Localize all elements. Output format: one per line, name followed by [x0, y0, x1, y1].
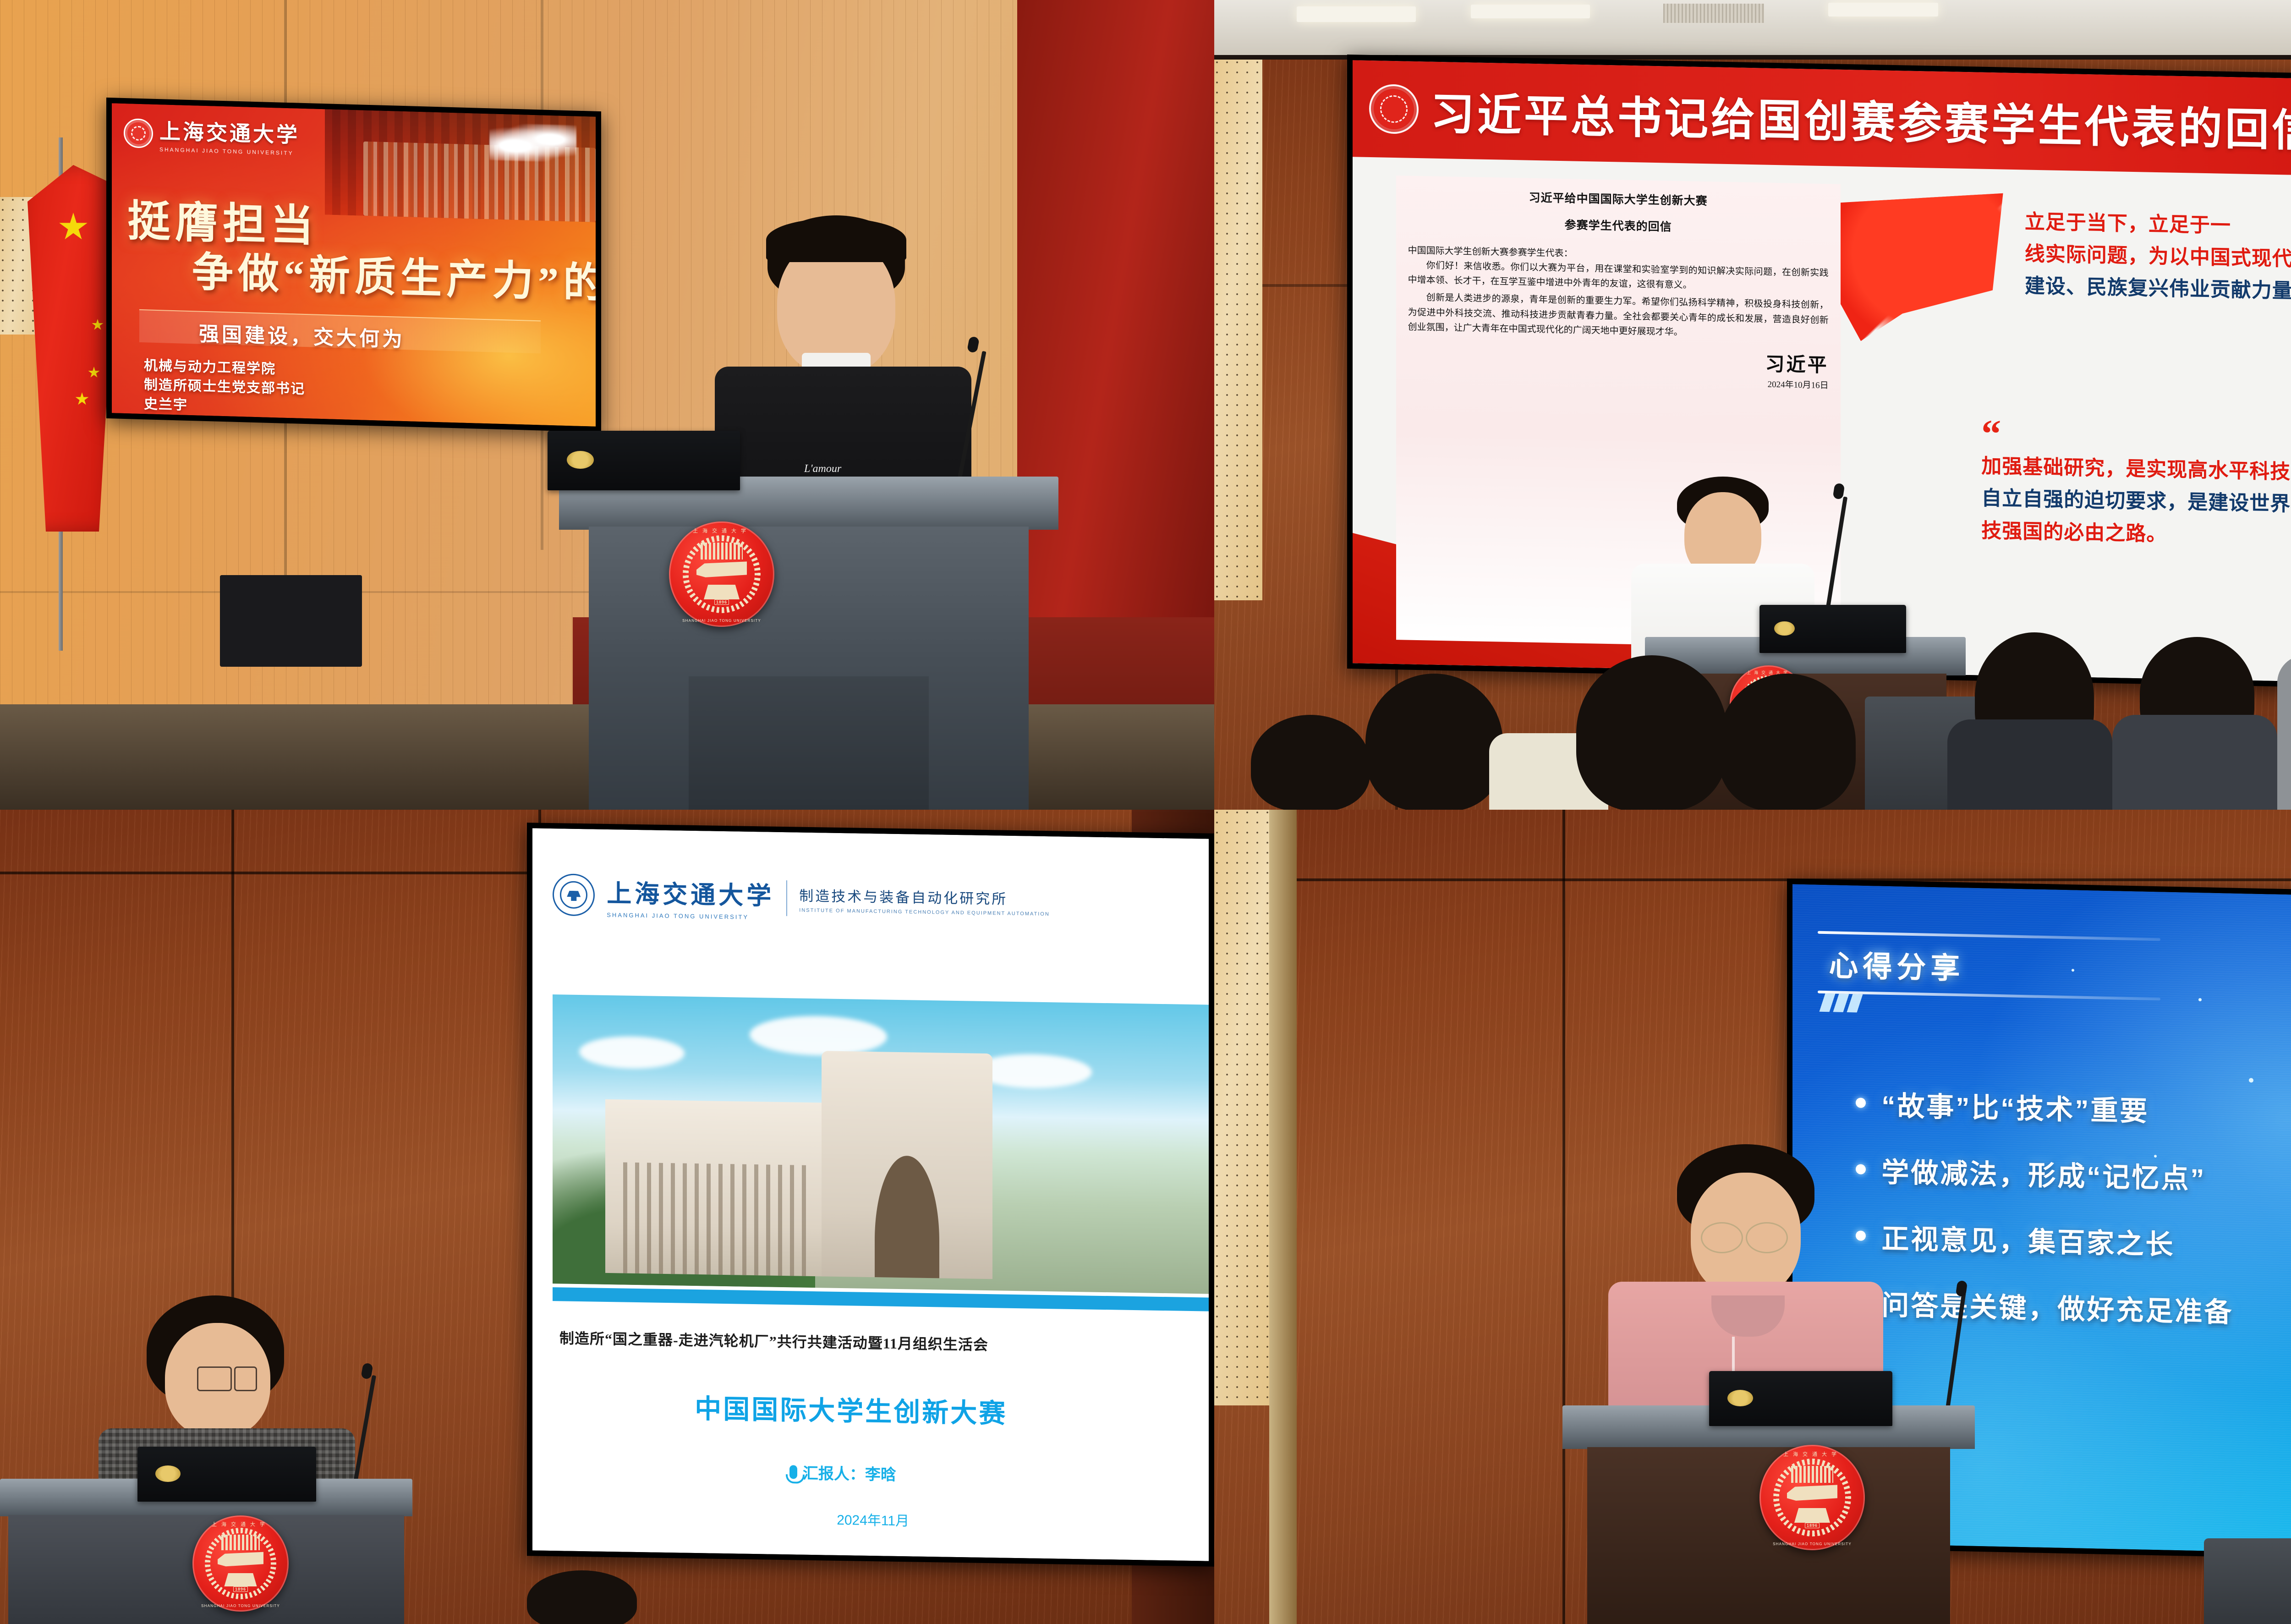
party-emblem-icon — [1369, 84, 1419, 134]
flag-star-icon — [92, 319, 104, 331]
audience-head — [1365, 674, 1503, 810]
letter-title-line1: 习近平给中国国际大学生创新大赛 — [1408, 186, 1829, 214]
campus-gate-arch — [822, 1051, 992, 1279]
sjtu-podium-emblem: 上海交通大学 1896 SHANGHAI JIAO TONG UNIVERSIT… — [669, 521, 774, 627]
dove-icon — [489, 123, 576, 163]
sjtu-podium-emblem: 上海交通大学 1896 SHANGHAI JIAO TONG UNIVERSIT… — [192, 1515, 289, 1612]
letter-paragraph-2: 创新是人类进步的源泉，青年是创新的重要生力军。希望你们弘扬科学精神，积极投身科技… — [1408, 290, 1829, 343]
laptop-screen — [548, 431, 740, 490]
acoustic-panel — [1214, 810, 1269, 1405]
quote1-line1: 立足于当下，立足于一 — [2025, 206, 2291, 243]
emblem-base — [704, 585, 740, 599]
quote1-line3: 建设、民族复兴伟业贡献力量 — [2025, 270, 2291, 308]
emblem-ring-en: SHANGHAI JIAO TONG UNIVERSITY — [669, 619, 774, 623]
emblem-base — [224, 1573, 257, 1586]
panel-bottom-left: 上海交通大学 SHANGHAI JIAO TONG UNIVERSITY 制造技… — [0, 810, 1214, 1624]
quote1-line2-text: 线实际问题，为以中国式现代化 — [2025, 242, 2291, 270]
slide-title: 心得分享 — [1829, 942, 2160, 991]
wall-trim — [1269, 810, 1297, 1624]
slide-byline-3: 史兰宇 — [144, 394, 188, 416]
ceiling-light — [1471, 5, 1590, 18]
cloud-shape — [579, 1036, 685, 1070]
emblem-ring-cn: 上海交通大学 — [669, 527, 774, 534]
slide-strapline: 强国建设，交大何为 — [199, 318, 405, 353]
laptop-badge-icon — [1774, 621, 1795, 636]
laptop-badge-icon — [155, 1465, 181, 1482]
star-speck — [2249, 1078, 2253, 1082]
quote2-line2: 自立自强的迫切要求，是建设世界科 — [1981, 483, 2291, 521]
lectern-podium: 上海交通大学 1896 SHANGHAI JIAO TONG UNIVERSIT… — [1562, 1405, 1975, 1624]
audience-shoulder — [2277, 655, 2291, 810]
ceiling-light — [1828, 3, 1938, 16]
microphone-icon — [789, 1465, 797, 1479]
ceiling-light — [1297, 6, 1416, 22]
emblem-year: 1896 — [233, 1586, 248, 1592]
laptop-badge-icon — [567, 451, 594, 469]
speaker-glasses — [197, 1366, 232, 1391]
laptop-screen — [1709, 1371, 1892, 1426]
star-speck — [2072, 969, 2074, 972]
laptop-screen — [1759, 605, 1906, 653]
sjtu-seal-icon — [124, 118, 153, 148]
audience-shoulder — [1947, 719, 2112, 810]
bullet-text: “故事”比“技术”重要 — [1881, 1083, 2149, 1129]
sjtu-logo: 上海交通大学 SHANGHAI JIAO TONG UNIVERSITY — [124, 114, 300, 157]
audience-head — [1576, 655, 1727, 810]
sjtu-wordmark-cn: 上海交通大学 — [159, 115, 300, 149]
speaker-glasses — [1701, 1222, 1743, 1253]
podium-column — [689, 676, 928, 810]
sjtu-podium-emblem: 上海交通大学 1896 SHANGHAI JIAO TONG UNIVERSIT… — [1759, 1445, 1865, 1550]
acoustic-panel — [1214, 60, 1262, 600]
ceiling-vent — [1663, 4, 1764, 23]
sjtu-seal-icon — [553, 873, 595, 916]
laptop-screen — [137, 1447, 316, 1502]
quote2-line3: 技强国的必由之路。 — [1981, 515, 2291, 553]
bullet-dot-icon — [1856, 1098, 1866, 1108]
institute-name-cn: 制造技术与装备自动化研究所 — [799, 884, 1050, 909]
emblem-books — [1791, 1466, 1833, 1483]
presentation-screen: 上海交通大学 SHANGHAI JIAO TONG UNIVERSITY 挺膺担… — [106, 98, 601, 432]
star-speck — [1983, 1230, 1986, 1234]
slide-subtitle: 制造所“国之重器-走进汽轮机厂”共行共建活动暨11月组织生活会 — [559, 1327, 988, 1355]
flag-star-icon — [88, 367, 100, 379]
emblem-books — [221, 1535, 260, 1550]
logo-divider — [786, 880, 787, 916]
flag-star-icon — [59, 213, 88, 242]
quote-block-1: 立足于当下，立足于一 线实际问题，为以中国式现代化 建设、民族复兴伟业贡献力量 — [2025, 206, 2291, 308]
screen-display-area: 上海交通大学 SHANGHAI JIAO TONG UNIVERSITY 制造技… — [532, 828, 1209, 1561]
title-rule-top — [1818, 931, 2160, 941]
list-item: “故事”比“技术”重要 — [1856, 1083, 2291, 1135]
slide-banner-title: 习近平总书记给国创赛参赛学生代表的回信 — [1431, 78, 2291, 159]
slide-main-title: 中国国际大学生创新大赛 — [695, 1387, 1007, 1430]
slide-presenter: 汇报人：李晗 — [789, 1460, 896, 1485]
emblem-ring-cn: 上海交通大学 — [1759, 1450, 1865, 1458]
presenter-name: 汇报人：李晗 — [803, 1461, 896, 1485]
panel-bottom-right: 心得分享 “故事”比“技术”重要 学做减法，形成“记忆点” — [1214, 810, 2291, 1624]
emblem-base — [1794, 1508, 1830, 1523]
emblem-ring-cn: 上海交通大学 — [192, 1520, 289, 1528]
wall-seam — [1214, 878, 2291, 881]
letter-title-line2: 参赛学生代表的回信 — [1408, 212, 1829, 240]
red-flag-graphic — [1830, 190, 2003, 350]
star-speck — [2154, 1155, 2157, 1158]
flag-star-icon — [75, 392, 89, 406]
cloud-shape — [750, 1015, 887, 1057]
campus-gate-photo — [553, 995, 1209, 1294]
speaker-glasses — [1746, 1222, 1788, 1253]
laptop-badge-icon — [1727, 1390, 1753, 1406]
speaker-glasses — [234, 1366, 257, 1391]
emblem-ring-en: SHANGHAI JIAO TONG UNIVERSITY — [192, 1604, 289, 1608]
quote-block-2: “ 加强基础研究，是实现高水平科技 自立自强的迫切要求，是建设世界科 技强国的必… — [1981, 422, 2291, 554]
campus-building — [605, 1099, 828, 1276]
audience-head — [1251, 715, 1370, 810]
emblem-year: 1896 — [714, 599, 729, 605]
title-rule-bottom — [1818, 990, 2160, 1000]
star-speck — [2198, 998, 2202, 1001]
screen-display-area: 上海交通大学 SHANGHAI JIAO TONG UNIVERSITY 挺膺担… — [112, 103, 596, 426]
stage-monitor-box — [220, 575, 362, 667]
emblem-year: 1896 — [1805, 1523, 1820, 1528]
sweater-text: L'amour — [804, 463, 877, 475]
sjtu-wordmark-en: SHANGHAI JIAO TONG UNIVERSITY — [607, 911, 774, 921]
institute-name-en: INSTITUTE OF MANUFACTURING TECHNOLOGY AN… — [799, 907, 1050, 917]
audience-shoulder — [2112, 715, 2277, 810]
photo-collage-grid: 上海交通大学 SHANGHAI JIAO TONG UNIVERSITY 挺膺担… — [0, 0, 2291, 1624]
speaker-fringe — [766, 218, 906, 262]
lectern-podium: 上海交通大学 1896 SHANGHAI JIAO TONG UNIVERSIT… — [559, 477, 1058, 810]
presentation-screen: 上海交通大学 SHANGHAI JIAO TONG UNIVERSITY 制造技… — [527, 823, 1214, 1567]
emblem-books — [701, 543, 743, 560]
slide-logo-lockup: 上海交通大学 SHANGHAI JIAO TONG UNIVERSITY 制造技… — [553, 872, 1050, 925]
slide-title-block: 心得分享 — [1818, 931, 2160, 1019]
emblem-ring-en: SHANGHAI JIAO TONG UNIVERSITY — [1759, 1542, 1865, 1546]
slide-date: 2024年11月 — [837, 1508, 909, 1529]
sjtu-wordmark-cn: 上海交通大学 — [607, 873, 774, 912]
slide-banner: 习近平总书记给国创赛参赛学生代表的回信 — [1353, 60, 2291, 177]
auditorium-chair — [2204, 1538, 2291, 1624]
slide-patriotic-red: 上海交通大学 SHANGHAI JIAO TONG UNIVERSITY 挺膺担… — [112, 103, 596, 426]
slide-headline-line2: 争做“新质生产力”的一份子 — [192, 238, 596, 313]
quote1-line2: 线实际问题，为以中国式现代化 — [2025, 238, 2291, 275]
letter-paragraph-1: 你们好！来信收悉。你们以大赛为平台，用在课堂和实验室学到的知识解决实际问题，在创… — [1408, 258, 1829, 295]
audience-head — [1718, 674, 1856, 810]
panel-top-right: 习近平总书记给国创赛参赛学生代表的回信 习近平给中国国际大学生创新大赛 参赛学生… — [1214, 0, 2291, 810]
quote-mark-icon: “ — [1981, 422, 2291, 452]
title-chip-decoration — [1822, 993, 2160, 1018]
slide-sjtu-campus: 上海交通大学 SHANGHAI JIAO TONG UNIVERSITY 制造技… — [532, 828, 1209, 1561]
panel-top-left: 上海交通大学 SHANGHAI JIAO TONG UNIVERSITY 挺膺担… — [0, 0, 1214, 810]
